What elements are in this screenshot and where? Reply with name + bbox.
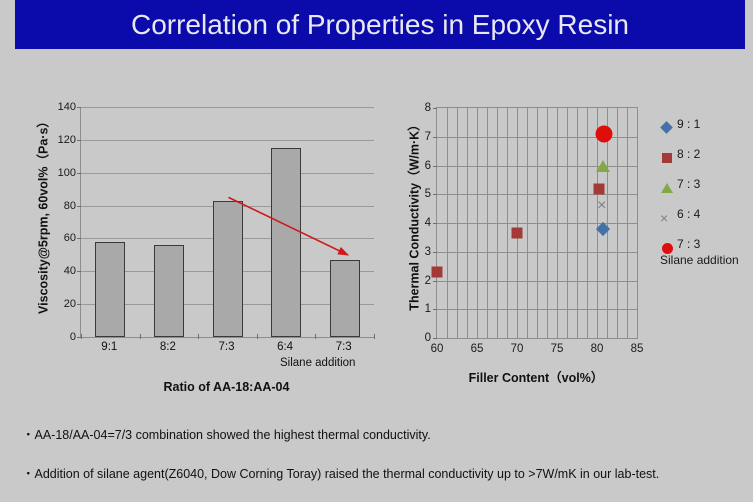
bar-chart-x-tick-mark xyxy=(81,334,82,339)
scatter-y-tick-label: 2 xyxy=(425,275,431,287)
scatter-gridline-vertical xyxy=(617,108,618,338)
bar-chart-x-tick-label: 8:2 xyxy=(139,341,197,353)
bar-chart-x-tick-label: 6:4 xyxy=(256,341,314,353)
scatter-y-tick-mark xyxy=(433,309,437,310)
bar-chart-bar xyxy=(271,148,301,337)
scatter-gridline-vertical xyxy=(487,108,488,338)
scatter-gridline-vertical xyxy=(587,108,588,338)
scatter-gridline-vertical xyxy=(557,108,558,338)
legend-marker: × xyxy=(660,211,674,225)
scatter-gridline-vertical xyxy=(547,108,548,338)
slide-title: Correlation of Properties in Epoxy Resin xyxy=(15,0,745,49)
scatter-y-tick-mark xyxy=(433,137,437,138)
scatter-data-point xyxy=(596,125,613,142)
bar-chart-y-axis-title: Viscosity@5rpm, 60vol%（Pa·s） xyxy=(33,95,52,335)
bar-chart-x-tick-label: 7:3 xyxy=(315,341,373,353)
scatter-y-tick-label: 3 xyxy=(425,246,431,258)
bar-chart-y-tick-label: 60 xyxy=(64,232,76,244)
scatter-y-tick-label: 5 xyxy=(425,188,431,200)
scatter-y-tick-mark xyxy=(433,166,437,167)
scatter-gridline-vertical xyxy=(477,108,478,338)
scatter-gridline-vertical xyxy=(447,108,448,338)
bar-chart-y-tick-mark xyxy=(77,107,81,108)
legend-marker-icon: × xyxy=(660,211,674,225)
scatter-y-tick-mark xyxy=(433,108,437,109)
scatter-gridline-vertical xyxy=(577,108,578,338)
scatter-y-tick-mark xyxy=(433,338,437,339)
bar-chart-y-tick-label: 140 xyxy=(58,101,76,113)
scatter-y-axis-title: Thermal Conductivity（W/m·K） xyxy=(404,90,423,340)
scatter-x-tick-label: 60 xyxy=(431,343,444,355)
bar-chart-y-tick-label: 40 xyxy=(64,265,76,277)
scatter-x-tick-label: 65 xyxy=(471,343,484,355)
bar-chart-x-axis-title: Ratio of AA-18:AA-04 xyxy=(80,380,373,394)
scatter-x-tick-label: 80 xyxy=(591,343,604,355)
bar-chart-x-tick-mark xyxy=(198,334,199,339)
bar-chart-gridline xyxy=(81,140,374,141)
scatter-y-tick-mark xyxy=(433,281,437,282)
bar-chart-bar xyxy=(154,245,184,337)
scatter-gridline-vertical xyxy=(457,108,458,338)
bar-chart-gridline xyxy=(81,107,374,108)
scatter-gridline-vertical xyxy=(527,108,528,338)
bar-chart-x-tick-mark xyxy=(140,334,141,339)
legend-item: 9 : 1 xyxy=(660,113,753,143)
bar-chart-y-tick-mark xyxy=(77,206,81,207)
scatter-x-tick-label: 75 xyxy=(551,343,564,355)
bar-chart-x-tick-label: 7:3 xyxy=(198,341,256,353)
bar-chart-bar xyxy=(330,260,360,337)
scatter-gridline-vertical xyxy=(507,108,508,338)
scatter-gridline-vertical xyxy=(607,108,608,338)
scatter-gridline-vertical xyxy=(497,108,498,338)
scatter-x-tick-label: 85 xyxy=(631,343,644,355)
bar-chart-x-tick-mark xyxy=(257,334,258,339)
scatter-y-tick-label: 8 xyxy=(425,102,431,114)
scatter-data-point xyxy=(596,160,610,172)
summary-bullets: ・AA-18/AA-04=7/3 combination showed the … xyxy=(22,424,742,502)
legend-marker-icon xyxy=(662,153,672,163)
legend-marker-icon xyxy=(660,121,673,134)
bar-chart-y-tick-mark xyxy=(77,304,81,305)
scatter-gridline-vertical xyxy=(517,108,518,338)
viscosity-bar-chart: Viscosity@5rpm, 60vol%（Pa·s） 02040608010… xyxy=(18,95,378,395)
scatter-y-tick-label: 7 xyxy=(425,131,431,143)
scatter-plot-area: 012345678606570758085× xyxy=(436,107,638,339)
bar-chart-plot-area: 020406080100120140 xyxy=(80,107,374,338)
bar-chart-x-sublabel: Silane addition xyxy=(280,357,355,369)
bar-chart-y-tick-label: 0 xyxy=(70,331,76,343)
legend-sublabel: Silane addition xyxy=(660,253,739,267)
scatter-data-point xyxy=(512,228,523,239)
bar-chart-x-tick-mark xyxy=(315,334,316,339)
legend-label: 6 : 4 xyxy=(677,207,700,221)
scatter-y-tick-label: 1 xyxy=(425,303,431,315)
bar-chart-y-tick-mark xyxy=(77,140,81,141)
bar-chart-y-tick-label: 20 xyxy=(64,298,76,310)
legend-item: 7 : 3 xyxy=(660,173,753,203)
legend-marker xyxy=(660,181,674,195)
scatter-x-axis-title: Filler Content（vol%） xyxy=(436,367,636,386)
bar-chart-y-tick-label: 80 xyxy=(64,200,76,212)
bullet-line: ・AA-18/AA-04=7/3 combination showed the … xyxy=(22,424,742,443)
bar-chart-gridline xyxy=(81,173,374,174)
legend-item: ×6 : 4 xyxy=(660,203,753,233)
bar-chart-y-tick-label: 100 xyxy=(58,167,76,179)
bar-chart-x-tick-label: 9:1 xyxy=(80,341,138,353)
thermal-conductivity-scatter-chart: Thermal Conductivity（W/m·K） 012345678606… xyxy=(388,95,753,395)
scatter-y-tick-mark xyxy=(433,194,437,195)
slide-title-banner: Correlation of Properties in Epoxy Resin xyxy=(15,0,745,49)
bar-chart-bar xyxy=(213,201,243,337)
scatter-gridline-vertical xyxy=(567,108,568,338)
scatter-gridline-vertical xyxy=(627,108,628,338)
scatter-y-tick-label: 6 xyxy=(425,160,431,172)
bar-chart-bar xyxy=(95,242,125,337)
legend-label: 8 : 2 xyxy=(677,147,700,161)
legend-label: 7 : 3 xyxy=(677,237,700,251)
scatter-y-tick-mark xyxy=(433,223,437,224)
bar-chart-y-tick-mark xyxy=(77,271,81,272)
bar-chart-y-tick-label: 120 xyxy=(58,134,76,146)
legend-label: 9 : 1 xyxy=(677,117,700,131)
scatter-gridline-vertical xyxy=(537,108,538,338)
scatter-data-point xyxy=(594,183,605,194)
legend-marker-icon xyxy=(661,183,673,193)
scatter-y-tick-mark xyxy=(433,252,437,253)
legend-item: 7 : 3Silane addition xyxy=(660,233,753,263)
legend-label: 7 : 3 xyxy=(677,177,700,191)
scatter-data-point: × xyxy=(597,198,606,214)
scatter-y-tick-label: 4 xyxy=(425,217,431,229)
legend-marker xyxy=(660,151,674,165)
scatter-data-point xyxy=(432,266,443,277)
bar-chart-y-tick-mark xyxy=(77,238,81,239)
bar-chart-y-tick-mark xyxy=(77,173,81,174)
legend-marker xyxy=(660,121,674,135)
legend-item: 8 : 2 xyxy=(660,143,753,173)
bullet-line: ・Addition of silane agent(Z6040, Dow Cor… xyxy=(22,463,742,482)
scatter-x-tick-label: 70 xyxy=(511,343,524,355)
scatter-gridline-vertical xyxy=(467,108,468,338)
bar-chart-x-tick-mark xyxy=(374,334,375,339)
scatter-gridline-vertical xyxy=(597,108,598,338)
slide-canvas: Correlation of Properties in Epoxy Resin… xyxy=(0,0,753,485)
scatter-legend: 9 : 18 : 27 : 3×6 : 47 : 3Silane additio… xyxy=(660,113,753,263)
